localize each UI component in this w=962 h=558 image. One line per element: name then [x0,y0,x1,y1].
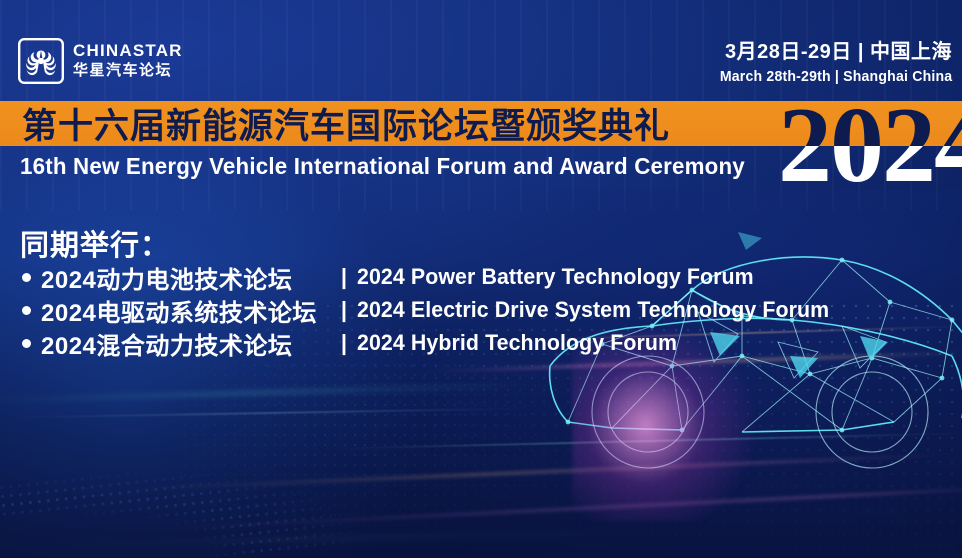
concurrent-forum-list: 2024动力电池技术论坛 | 2024 Power Battery Techno… [22,262,844,361]
bullet-icon [22,339,31,348]
bullet-icon [22,306,31,315]
date-location-block: 3月28日-29日 | 中国上海 March 28th-29th | Shang… [705,40,952,87]
wireframe-car-graphic [542,216,962,516]
forum-list-item: 2024混合动力技术论坛 | 2024 Hybrid Technology Fo… [22,328,844,358]
chinastar-emblem-icon [18,38,64,84]
logo-text: CHINASTAR 华星汽车论坛 [73,42,183,79]
date-location-english: March 28th-29th | Shanghai China [720,68,952,87]
event-banner: CHINASTAR 华星汽车论坛 3月28日-29日 | 中国上海 March … [0,0,962,558]
chinastar-logo: CHINASTAR 华星汽车论坛 [18,38,183,84]
forum-name-english: 2024 Electric Drive System Technology Fo… [357,297,829,323]
forum-separator: | [331,264,357,290]
forum-name-chinese: 2024动力电池技术论坛 [41,260,331,295]
logo-english-name: CHINASTAR [73,42,183,60]
date-location-chinese: 3月28日-29日 | 中国上海 [705,40,952,65]
event-title-chinese: 第十六届新能源汽车国际论坛暨颁奖典礼 [22,100,670,147]
event-year: 2024 2024 [778,92,962,200]
event-title-english: 16th New Energy Vehicle International Fo… [20,147,745,185]
forum-name-english: 2024 Hybrid Technology Forum [357,330,677,356]
forum-name-chinese: 2024电驱动系统技术论坛 [41,293,331,328]
forum-separator: | [331,297,357,323]
forum-list-item: 2024电驱动系统技术论坛 | 2024 Electric Drive Syst… [22,295,844,325]
logo-chinese-name: 华星汽车论坛 [73,62,183,79]
forum-name-chinese: 2024混合动力技术论坛 [41,326,331,361]
concurrent-lead-label: 同期举行： [20,222,170,264]
forum-name-english: 2024 Power Battery Technology Forum [357,264,754,290]
forum-list-item: 2024动力电池技术论坛 | 2024 Power Battery Techno… [22,262,844,292]
forum-separator: | [331,330,357,356]
bullet-icon [22,273,31,282]
